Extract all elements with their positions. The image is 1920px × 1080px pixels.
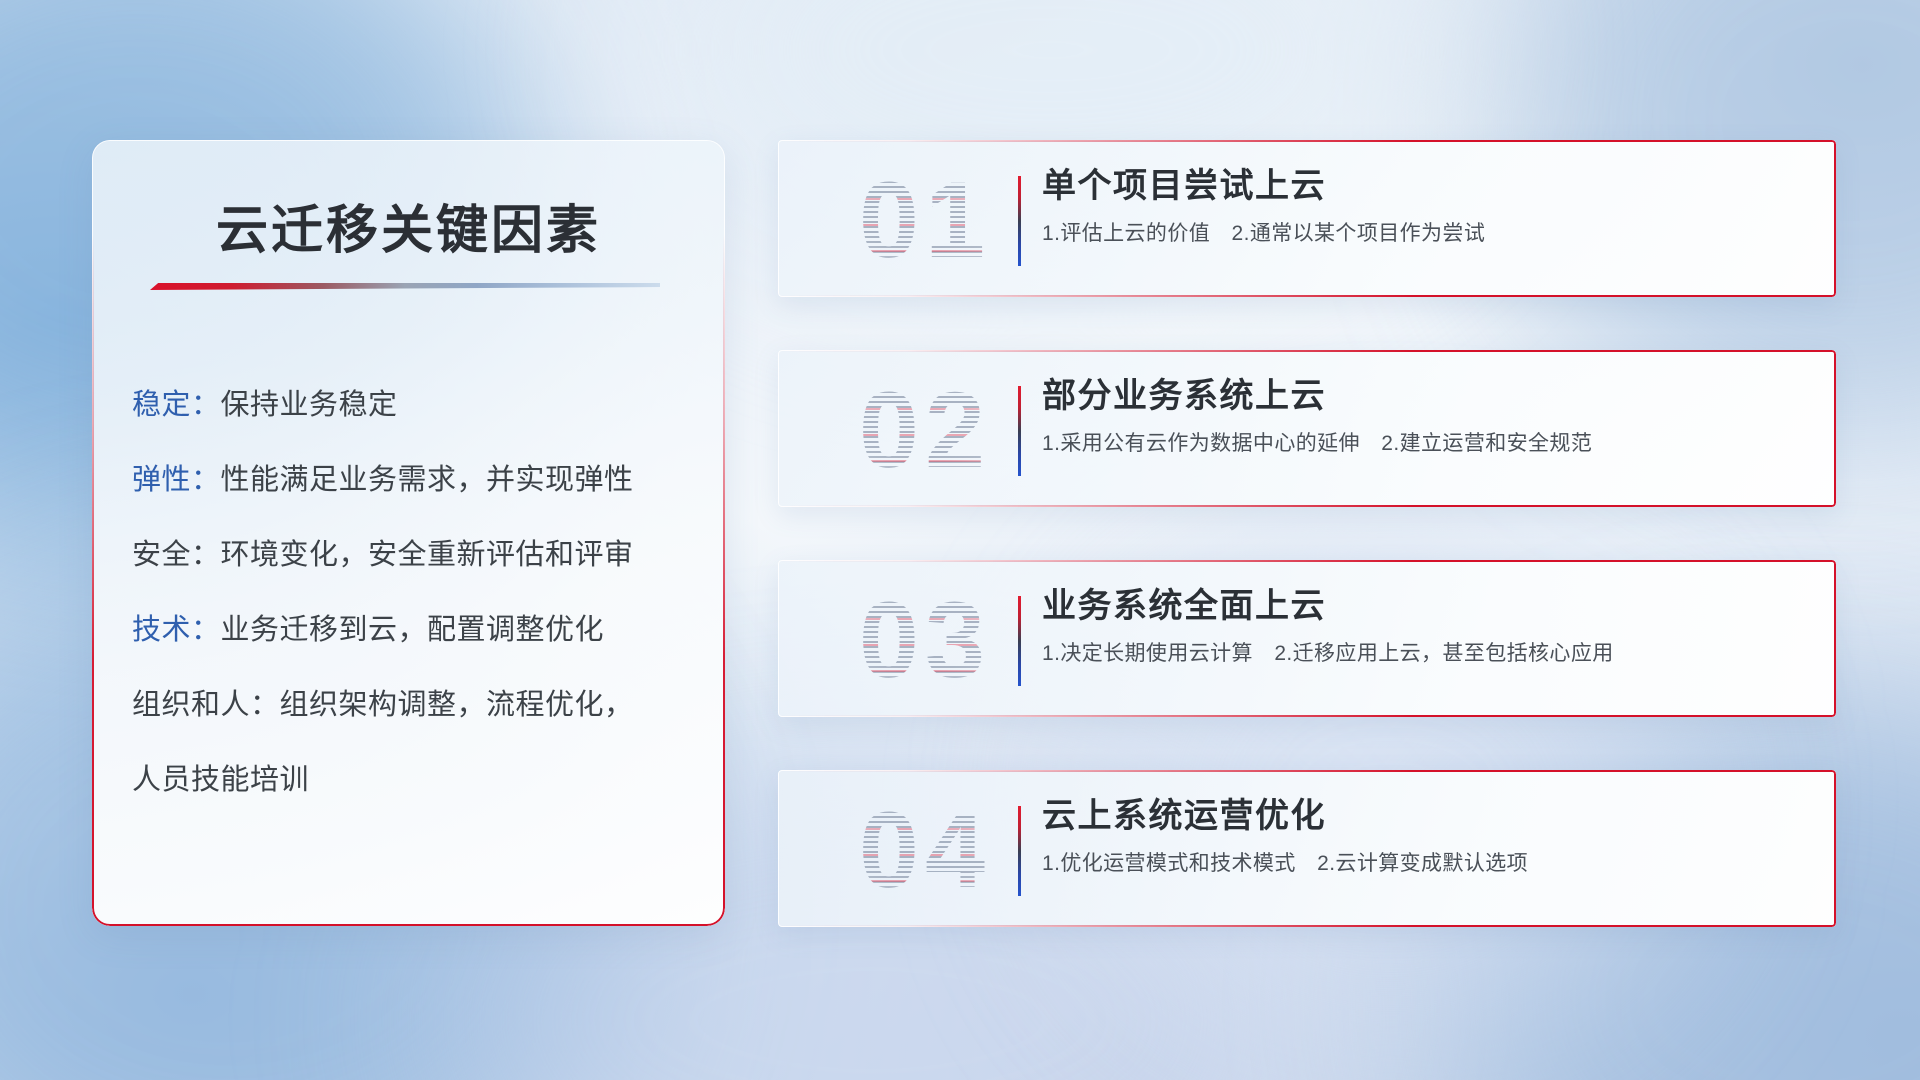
- card-divider-bar: [1018, 806, 1021, 896]
- card-text-block: 业务系统全面上云1.决定长期使用云计算 2.迁移应用上云，甚至包括核心应用: [1042, 584, 1816, 669]
- migration-stage-card-list: 0101单个项目尝试上云1.评估上云的价值 2.通常以某个项目作为尝试0202部…: [778, 140, 1836, 980]
- card-divider-bar: [1018, 176, 1021, 266]
- key-factor-item: 安全：环境变化，安全重新评估和评审: [132, 518, 695, 593]
- key-factor-keyword: 安全：: [132, 539, 221, 571]
- key-factor-item: 稳定：保持业务稳定: [132, 368, 695, 443]
- card-text-block: 部分业务系统上云1.采用公有云作为数据中心的延伸 2.建立运营和安全规范: [1042, 374, 1816, 459]
- key-factors-panel: 云迁移关键因素 稳定：保持业务稳定弹性：性能满足业务需求，并实现弹性安全：环境变…: [92, 140, 725, 926]
- key-factor-keyword: 组织和人：: [132, 689, 280, 721]
- key-factor-text: 环境变化，安全重新评估和评审: [221, 539, 634, 571]
- card-title: 单个项目尝试上云: [1042, 164, 1816, 208]
- card-title: 云上系统运营优化: [1042, 794, 1816, 838]
- card-text-block: 单个项目尝试上云1.评估上云的价值 2.通常以某个项目作为尝试: [1042, 164, 1816, 249]
- key-factor-keyword: 稳定：: [132, 389, 221, 421]
- key-factor-item: 技术：业务迁移到云，配置调整优化: [132, 593, 695, 668]
- card-description: 1.优化运营模式和技术模式 2.云计算变成默认选项: [1042, 849, 1816, 879]
- key-factor-text: 组织架构调整，流程优化，: [280, 689, 634, 721]
- migration-stage-card[interactable]: 0101单个项目尝试上云1.评估上云的价值 2.通常以某个项目作为尝试: [778, 140, 1836, 297]
- card-step-number: 03: [800, 566, 1050, 714]
- card-title: 业务系统全面上云: [1042, 584, 1816, 628]
- key-factor-item: 人员技能培训: [132, 743, 695, 818]
- card-divider-bar: [1018, 386, 1021, 476]
- card-divider-bar: [1018, 596, 1021, 686]
- key-factor-item: 组织和人：组织架构调整，流程优化，: [132, 668, 695, 743]
- migration-stage-card[interactable]: 0202部分业务系统上云1.采用公有云作为数据中心的延伸 2.建立运营和安全规范: [778, 350, 1836, 507]
- migration-stage-card[interactable]: 0404云上系统运营优化1.优化运营模式和技术模式 2.云计算变成默认选项: [778, 770, 1836, 927]
- key-factor-text: 业务迁移到云，配置调整优化: [221, 614, 605, 646]
- card-step-number: 01: [800, 146, 1050, 294]
- key-factors-list: 稳定：保持业务稳定弹性：性能满足业务需求，并实现弹性安全：环境变化，安全重新评估…: [132, 368, 695, 818]
- card-description: 1.评估上云的价值 2.通常以某个项目作为尝试: [1042, 219, 1816, 249]
- card-description: 1.采用公有云作为数据中心的延伸 2.建立运营和安全规范: [1042, 429, 1816, 459]
- panel-title: 云迁移关键因素: [92, 188, 725, 263]
- migration-stage-card[interactable]: 0303业务系统全面上云1.决定长期使用云计算 2.迁移应用上云，甚至包括核心应…: [778, 560, 1836, 717]
- key-factor-text: 保持业务稳定: [221, 389, 398, 421]
- key-factor-keyword: 技术：: [132, 614, 221, 646]
- key-factor-text: 人员技能培训: [132, 764, 309, 796]
- key-factor-keyword: 弹性：: [132, 464, 221, 496]
- card-title: 部分业务系统上云: [1042, 374, 1816, 418]
- card-step-number: 02: [800, 356, 1050, 504]
- slide-canvas: 云迁移关键因素 稳定：保持业务稳定弹性：性能满足业务需求，并实现弹性安全：环境变…: [0, 0, 1920, 1080]
- panel-title-underline: [150, 283, 660, 290]
- card-step-number: 04: [800, 776, 1050, 924]
- card-description: 1.决定长期使用云计算 2.迁移应用上云，甚至包括核心应用: [1042, 639, 1816, 669]
- key-factor-text: 性能满足业务需求，并实现弹性: [221, 464, 634, 496]
- key-factor-item: 弹性：性能满足业务需求，并实现弹性: [132, 443, 695, 518]
- card-text-block: 云上系统运营优化1.优化运营模式和技术模式 2.云计算变成默认选项: [1042, 794, 1816, 879]
